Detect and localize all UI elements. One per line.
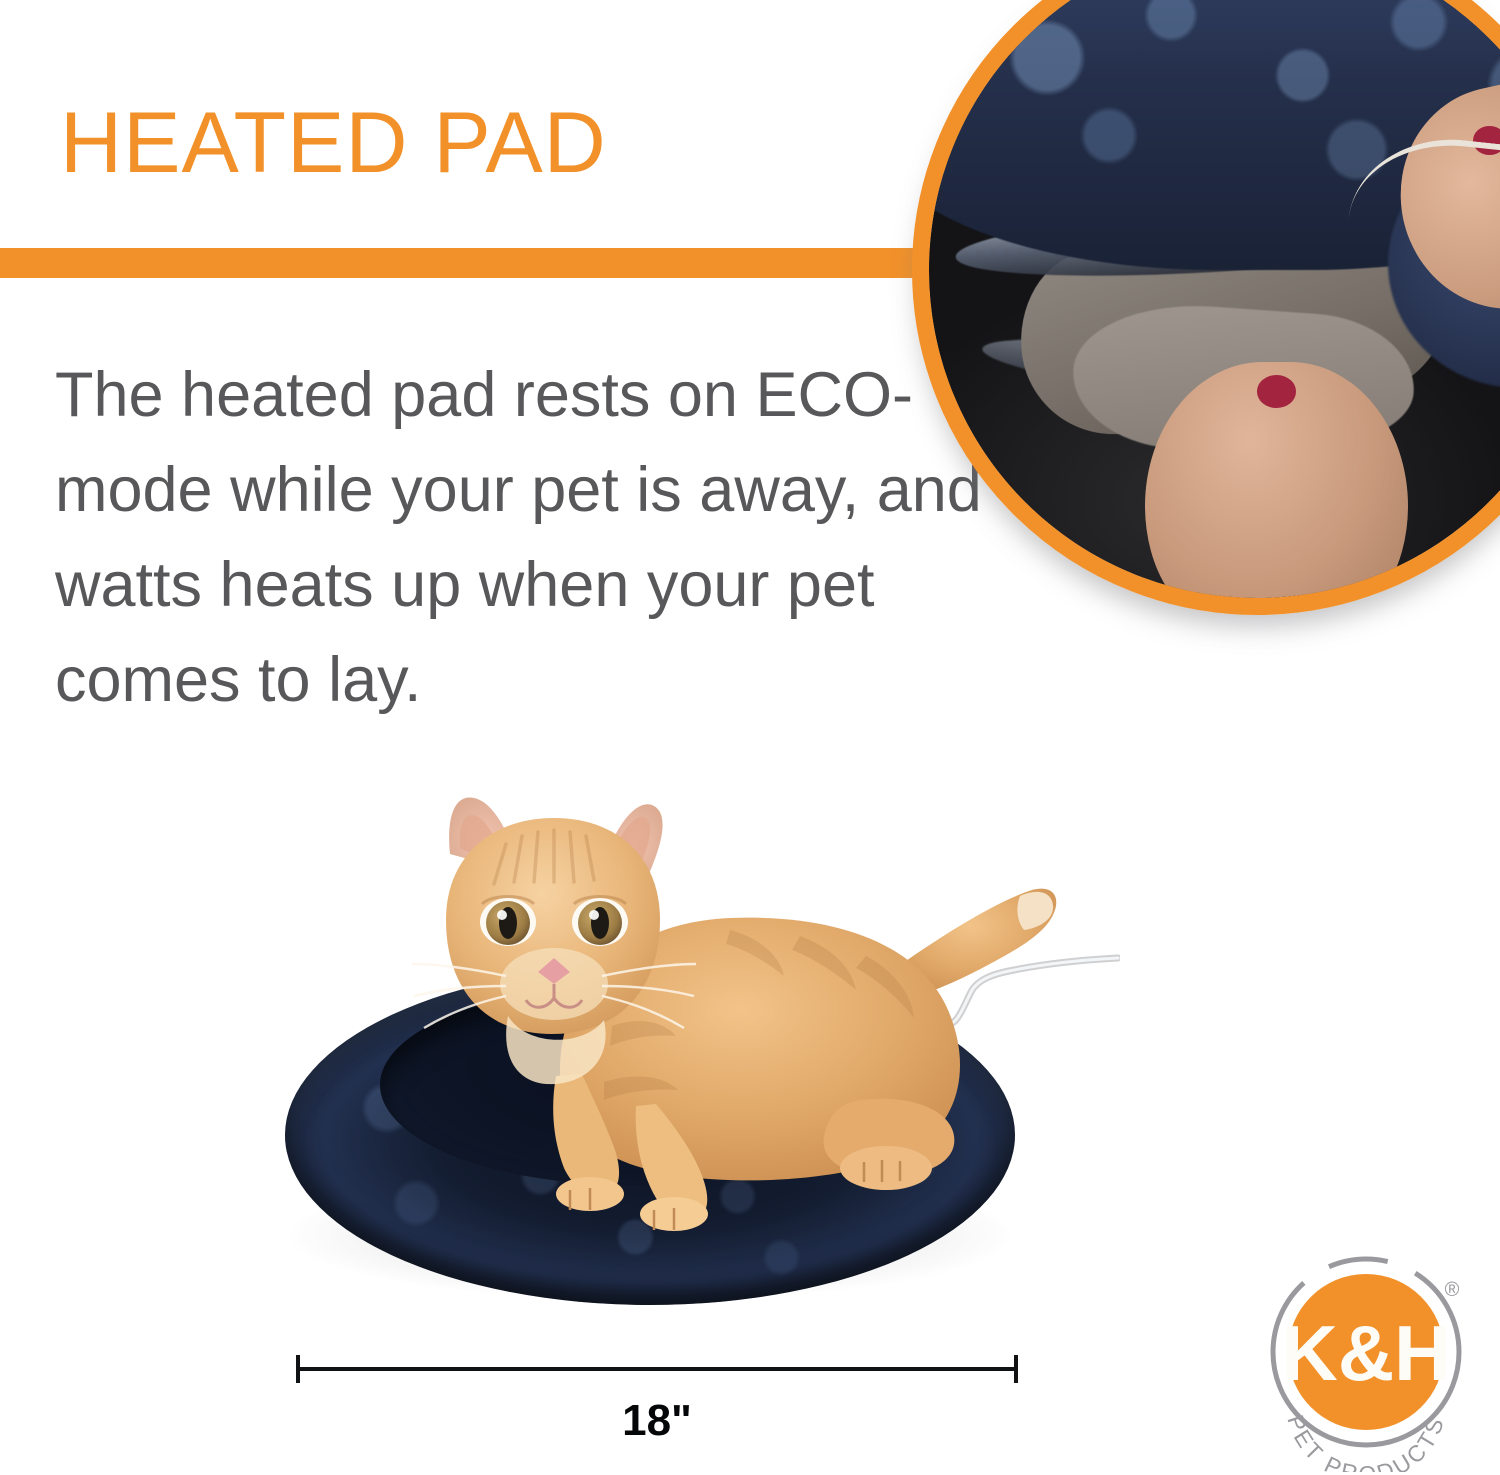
- dimension-label: 18": [296, 1396, 1018, 1446]
- accent-divider-bar: [0, 248, 936, 278]
- kitten: [260, 770, 1100, 1350]
- product-feature-image: HEATED PAD The heated pad rests on ECO-m…: [0, 0, 1500, 1475]
- inset-photo-circle: [912, 0, 1500, 615]
- logo-wordmark: K&H: [1282, 1309, 1451, 1397]
- dimension-cap-right: [1014, 1355, 1018, 1383]
- inset-photo-image: [929, 0, 1500, 598]
- hero-product-photo: [260, 770, 1100, 1350]
- page-title: HEATED PAD: [60, 100, 607, 186]
- brand-logo: K&H ® PET PRODUCTS: [1248, 1252, 1484, 1472]
- inset-fingernail: [1257, 375, 1296, 408]
- registered-trademark-icon: ®: [1445, 1279, 1460, 1301]
- dimension-line: [296, 1367, 1018, 1371]
